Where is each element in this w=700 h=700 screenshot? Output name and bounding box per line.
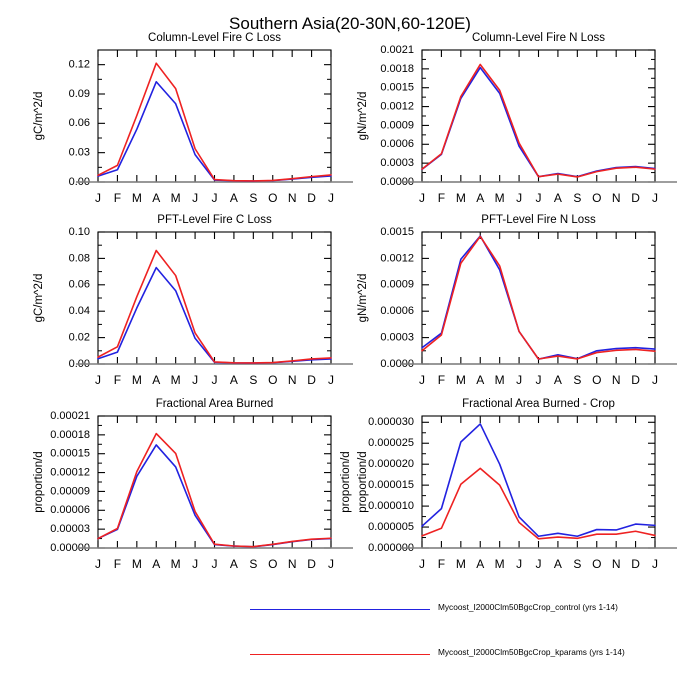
x-tick-label: J (516, 191, 522, 205)
x-tick-label: J (212, 373, 218, 387)
legend-label-control: Mycoost_I2000Clm50BgcCrop_control (yrs 1… (438, 602, 618, 612)
x-tick-label: M (456, 191, 466, 205)
plot-frame (98, 50, 331, 182)
x-tick-label: J (652, 373, 658, 387)
chart-panel-column-level-fire-n-loss: Column-Level Fire N Loss0.00000.00030.00… (350, 30, 681, 214)
x-tick-label: F (114, 557, 121, 571)
x-tick-label: F (438, 373, 445, 387)
plot-area-column-level-fire-n-loss: 0.00000.00030.00060.00090.00120.00150.00… (350, 30, 681, 214)
y-tick-label: 0.03 (69, 147, 90, 159)
x-tick-label: J (536, 191, 542, 205)
series-line-control (98, 445, 331, 547)
panel-title-pft-level-fire-n-loss: PFT-Level Fire N Loss (422, 214, 655, 226)
y-tick-label: 0.0006 (380, 305, 414, 317)
x-tick-label: N (612, 373, 621, 387)
x-tick-label: J (192, 557, 198, 571)
x-tick-label: J (516, 557, 522, 571)
x-tick-label: J (95, 191, 101, 205)
x-tick-label: J (652, 557, 658, 571)
x-tick-label: A (554, 557, 562, 571)
x-tick-label: J (95, 557, 101, 571)
x-tick-label: J (95, 373, 101, 387)
x-tick-label: A (152, 373, 160, 387)
x-tick-label: J (328, 557, 334, 571)
y-tick-label: 0.0006 (380, 138, 414, 150)
series-line-kparams (98, 434, 331, 547)
y-axis-title: gC/m^2/d (33, 274, 45, 323)
y-tick-label: 0.0003 (380, 157, 414, 169)
x-tick-label: J (328, 373, 334, 387)
y-tick-label: 0.000015 (368, 479, 414, 491)
x-tick-label: O (268, 191, 277, 205)
x-tick-label: O (268, 557, 277, 571)
y-tick-label: 0.0015 (380, 226, 414, 238)
chart-panel-pft-level-fire-c-loss: PFT-Level Fire C Loss0.000.020.040.060.0… (26, 212, 357, 396)
y-tick-label: 0.0012 (380, 252, 414, 264)
y-tick-label: 0.000025 (368, 437, 414, 449)
y-axis-title: gC/m^2/d (33, 92, 45, 141)
y-tick-label: 0.00006 (50, 504, 90, 516)
x-tick-label: J (419, 373, 425, 387)
x-tick-label: A (152, 191, 160, 205)
x-tick-label: F (438, 191, 445, 205)
x-tick-label: N (612, 191, 621, 205)
y-tick-label: 0.0009 (380, 119, 414, 131)
x-tick-label: M (495, 191, 505, 205)
series-line-kparams (98, 250, 331, 362)
series-line-kparams (422, 64, 655, 177)
y-tick-label: 0.06 (69, 117, 90, 129)
x-tick-label: D (307, 373, 316, 387)
series-line-control (422, 236, 655, 359)
y-tick-label: 0.00003 (50, 523, 90, 535)
x-tick-label: M (171, 557, 181, 571)
plot-frame (422, 50, 655, 182)
x-tick-label: A (554, 191, 562, 205)
x-tick-label: A (476, 191, 484, 205)
y-tick-label: 0.0021 (380, 44, 414, 56)
plot-area-pft-level-fire-c-loss: 0.000.020.040.060.080.10JFMAMJJASONDJgC/… (26, 212, 357, 396)
x-tick-label: M (171, 191, 181, 205)
x-tick-label: D (631, 191, 640, 205)
y-tick-label: 0.00021 (50, 410, 90, 422)
y-tick-label: 0.00015 (50, 448, 90, 460)
y-tick-label: 0.00018 (50, 429, 90, 441)
legend-line-swatch-control (250, 609, 430, 610)
x-tick-label: J (212, 557, 218, 571)
x-tick-label: F (114, 191, 121, 205)
panel-title-fractional-area-burned: Fractional Area Burned (98, 398, 331, 410)
x-tick-label: A (554, 373, 562, 387)
y-tick-label: 0.08 (69, 252, 90, 264)
y-axis-title: proportion/d (33, 451, 45, 512)
y-tick-label: 0.12 (69, 59, 90, 71)
x-tick-label: J (192, 191, 198, 205)
y-axis-title: gN/m^2/d (357, 92, 369, 141)
x-tick-label: A (152, 557, 160, 571)
plot-area-fractional-area-burned-crop: 0.0000000.0000050.0000100.0000150.000020… (350, 396, 681, 580)
x-tick-label: J (419, 557, 425, 571)
x-tick-label: A (230, 557, 238, 571)
figure-canvas: Southern Asia(20-30N,60-120E) Column-Lev… (0, 0, 700, 700)
plot-frame (98, 232, 331, 364)
x-tick-label: J (536, 557, 542, 571)
legend-entry-control: Mycoost_I2000Clm50BgcCrop_control (yrs 1… (0, 600, 700, 645)
x-tick-label: D (631, 373, 640, 387)
y-tick-label: 0.0009 (380, 279, 414, 291)
x-tick-label: A (476, 557, 484, 571)
x-tick-label: S (249, 373, 257, 387)
y-tick-label: 0.000010 (368, 500, 414, 512)
y-axis-title: gN/m^2/d (357, 274, 369, 323)
x-tick-label: S (573, 191, 581, 205)
x-tick-label: F (438, 557, 445, 571)
panel-title-column-level-fire-c-loss: Column-Level Fire C Loss (98, 32, 331, 44)
y-tick-label: 0.000005 (368, 521, 414, 533)
x-tick-label: M (456, 373, 466, 387)
x-tick-label: J (192, 373, 198, 387)
y-tick-label: 0.0012 (380, 100, 414, 112)
y-tick-label: 0.000030 (368, 416, 414, 428)
x-tick-label: D (307, 191, 316, 205)
y-tick-label: 0.04 (69, 305, 90, 317)
plot-area-fractional-area-burned: 0.000000.000030.000060.000090.000120.000… (26, 396, 357, 580)
y-tick-label: 0.0003 (380, 332, 414, 344)
legend-entry-kparams: Mycoost_I2000Clm50BgcCrop_kparams (yrs 1… (0, 645, 700, 690)
series-line-control (422, 68, 655, 177)
x-tick-label: D (631, 557, 640, 571)
y-tick-label: 0.06 (69, 279, 90, 291)
series-line-control (422, 424, 655, 536)
legend: Mycoost_I2000Clm50BgcCrop_control (yrs 1… (0, 600, 700, 690)
series-line-kparams (422, 236, 655, 359)
x-tick-label: M (171, 373, 181, 387)
x-tick-label: O (592, 191, 601, 205)
plot-frame (422, 232, 655, 364)
x-tick-label: M (132, 191, 142, 205)
x-tick-label: M (495, 373, 505, 387)
x-tick-label: F (114, 373, 121, 387)
chart-panel-pft-level-fire-n-loss: PFT-Level Fire N Loss0.00000.00030.00060… (350, 212, 681, 396)
y-tick-label: 0.02 (69, 332, 90, 344)
plot-area-column-level-fire-c-loss: 0.000.030.060.090.12JFMAMJJASONDJgC/m^2/… (26, 30, 357, 214)
x-tick-label: A (476, 373, 484, 387)
x-tick-label: J (419, 191, 425, 205)
y-tick-label: 0.00009 (50, 485, 90, 497)
x-tick-label: M (456, 557, 466, 571)
legend-line-swatch-kparams (250, 654, 430, 655)
legend-label-kparams: Mycoost_I2000Clm50BgcCrop_kparams (yrs 1… (438, 647, 625, 657)
series-line-control (98, 82, 331, 181)
chart-panel-column-level-fire-c-loss: Column-Level Fire C Loss0.000.030.060.09… (26, 30, 357, 214)
x-tick-label: O (592, 557, 601, 571)
x-tick-label: A (230, 191, 238, 205)
panel-title-fractional-area-burned-crop: Fractional Area Burned - Crop (422, 398, 655, 410)
x-tick-label: O (268, 373, 277, 387)
y-tick-label: 0.0018 (380, 63, 414, 75)
x-tick-label: M (132, 373, 142, 387)
y-tick-label: 0.00012 (50, 466, 90, 478)
y-tick-label: 0.10 (69, 226, 90, 238)
x-tick-label: J (212, 191, 218, 205)
x-tick-label: N (288, 557, 297, 571)
x-tick-label: N (288, 191, 297, 205)
series-line-kparams (98, 63, 331, 181)
panel-title-pft-level-fire-c-loss: PFT-Level Fire C Loss (98, 214, 331, 226)
y-tick-label: 0.0015 (380, 82, 414, 94)
x-tick-label: N (612, 557, 621, 571)
x-tick-label: J (536, 373, 542, 387)
x-tick-label: S (249, 191, 257, 205)
y-tick-label: 0.09 (69, 88, 90, 100)
chart-panel-fractional-area-burned: Fractional Area Burned0.000000.000030.00… (26, 396, 357, 580)
x-tick-label: A (230, 373, 238, 387)
panel-title-column-level-fire-n-loss: Column-Level Fire N Loss (422, 32, 655, 44)
x-tick-label: D (307, 557, 316, 571)
x-tick-label: S (573, 557, 581, 571)
chart-panel-fractional-area-burned-crop: Fractional Area Burned - Crop0.0000000.0… (350, 396, 681, 580)
x-tick-label: J (516, 373, 522, 387)
y-axis-title: proportion/d (357, 451, 369, 512)
plot-area-pft-level-fire-n-loss: 0.00000.00030.00060.00090.00120.0015JFMA… (350, 212, 681, 396)
x-tick-label: J (328, 191, 334, 205)
x-tick-label: J (652, 191, 658, 205)
x-tick-label: S (573, 373, 581, 387)
x-tick-label: M (495, 557, 505, 571)
x-tick-label: O (592, 373, 601, 387)
x-tick-label: S (249, 557, 257, 571)
x-tick-label: N (288, 373, 297, 387)
x-tick-label: M (132, 557, 142, 571)
series-line-control (98, 268, 331, 363)
y-tick-label: 0.000020 (368, 458, 414, 470)
